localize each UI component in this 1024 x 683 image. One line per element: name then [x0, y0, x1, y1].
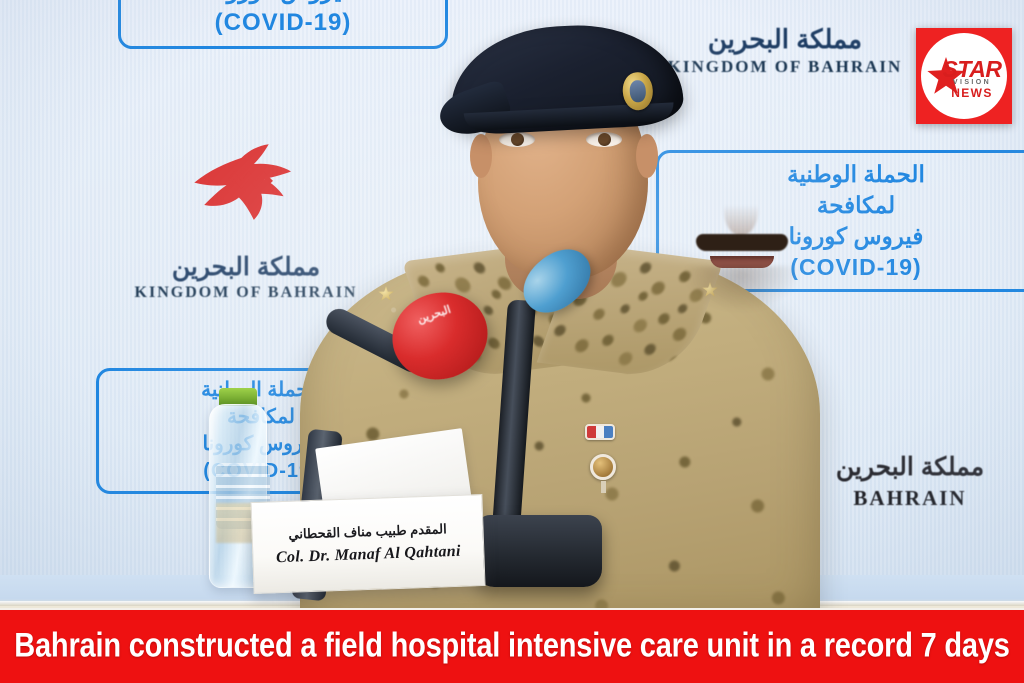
headline-text: Bahrain constructed a field hospital int…	[14, 627, 1009, 666]
nameplate-arabic-text: المقدم طبيب مناف القحطاني	[288, 521, 447, 543]
logo-star-text: STAR	[943, 58, 1002, 81]
pupil	[511, 133, 524, 146]
unit-badge-icon	[585, 424, 615, 440]
video-frame: فيروس كورونا (COVID-19) مملكة البحرين KI…	[0, 0, 1024, 683]
ear-left	[470, 134, 492, 178]
eye-left	[499, 132, 535, 147]
nameplate: المقدم طبيب مناف القحطاني Col. Dr. Manaf…	[250, 494, 485, 594]
chin-shadow	[684, 266, 800, 312]
nose	[724, 184, 758, 236]
military-beret	[447, 20, 684, 136]
eye-right	[586, 132, 622, 147]
logo-disc: STAR VISION NEWS	[921, 33, 1007, 119]
logo-news-text: NEWS	[951, 87, 993, 99]
moustache	[696, 234, 788, 251]
medal-badge-icon	[590, 454, 616, 480]
nameplate-english-text: Col. Dr. Manaf Al Qahtani	[276, 543, 461, 567]
pupil	[598, 133, 611, 146]
logo-wordmark: STAR VISION NEWS	[943, 58, 1002, 99]
lower-third-banner: Bahrain constructed a field hospital int…	[0, 608, 1024, 683]
ear-right	[636, 134, 658, 178]
channel-logo: STAR VISION NEWS	[916, 28, 1012, 124]
logo-vision-text: VISION	[953, 79, 991, 86]
microphone-base	[476, 515, 602, 587]
